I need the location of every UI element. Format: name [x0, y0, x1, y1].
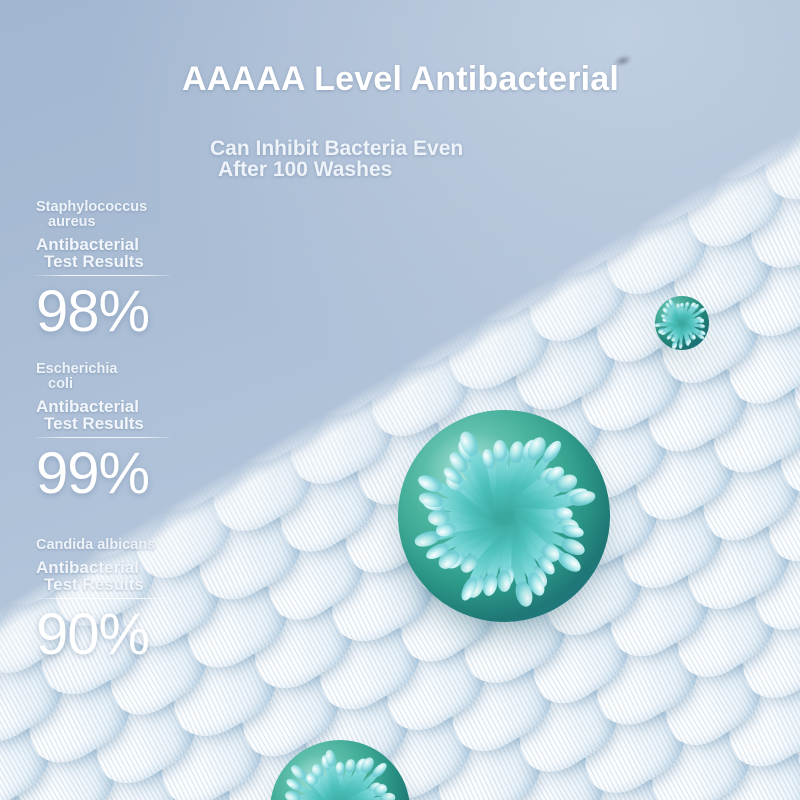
germ-name-line-2: aureus — [36, 215, 266, 230]
headline: AAAAA Level Antibacterial — [182, 60, 652, 99]
germ-name-line-1: Candida albicans — [36, 537, 155, 553]
germ-name: Staphylococcus aureus — [36, 200, 266, 230]
virus-spike — [484, 443, 519, 517]
test-results-label-line-2: Test Results — [36, 253, 266, 270]
virus-spike-head — [493, 440, 508, 462]
germ-name-line-1: Staphylococcus — [36, 199, 147, 215]
germ-name: Candida albicans — [36, 538, 266, 553]
stat-block: Escherichia coli Antibacterial Test Resu… — [36, 362, 266, 504]
antibacterial-infographic: AAAAA Level Antibacterial Can Inhibit Ba… — [0, 0, 800, 800]
test-results-label: Antibacterial Test Results — [36, 398, 266, 432]
test-results-label: Antibacterial Test Results — [36, 236, 266, 270]
virus-spike-head — [676, 303, 681, 310]
stat-block: Candida albicans Antibacterial Test Resu… — [36, 538, 266, 665]
divider-rule — [36, 275, 170, 276]
test-results-label-line-2: Test Results — [36, 415, 266, 432]
bacteria-virus-small — [655, 296, 709, 350]
germ-name: Escherichia coli — [36, 362, 266, 392]
germ-name-line-1: Escherichia — [36, 361, 117, 377]
germ-name-line-2: coli — [36, 377, 266, 392]
divider-rule — [36, 437, 170, 438]
bacteria-virus-bottom — [270, 740, 410, 800]
bacteria-virus-main — [398, 410, 610, 622]
test-results-label: Antibacterial Test Results — [36, 559, 266, 593]
test-results-label-line-2: Test Results — [36, 576, 266, 593]
subheadline-line-1: Can Inhibit Bacteria Even — [210, 137, 463, 160]
percent-value: 99% — [36, 444, 266, 504]
divider-rule — [36, 598, 170, 599]
subheadline-line-2: After 100 Washes — [210, 159, 540, 180]
percent-value: 98% — [36, 282, 266, 342]
stat-block: Staphylococcus aureus Antibacterial Test… — [36, 200, 266, 342]
subheadline: Can Inhibit Bacteria Even After 100 Wash… — [210, 138, 540, 180]
percent-value: 90% — [36, 605, 266, 665]
